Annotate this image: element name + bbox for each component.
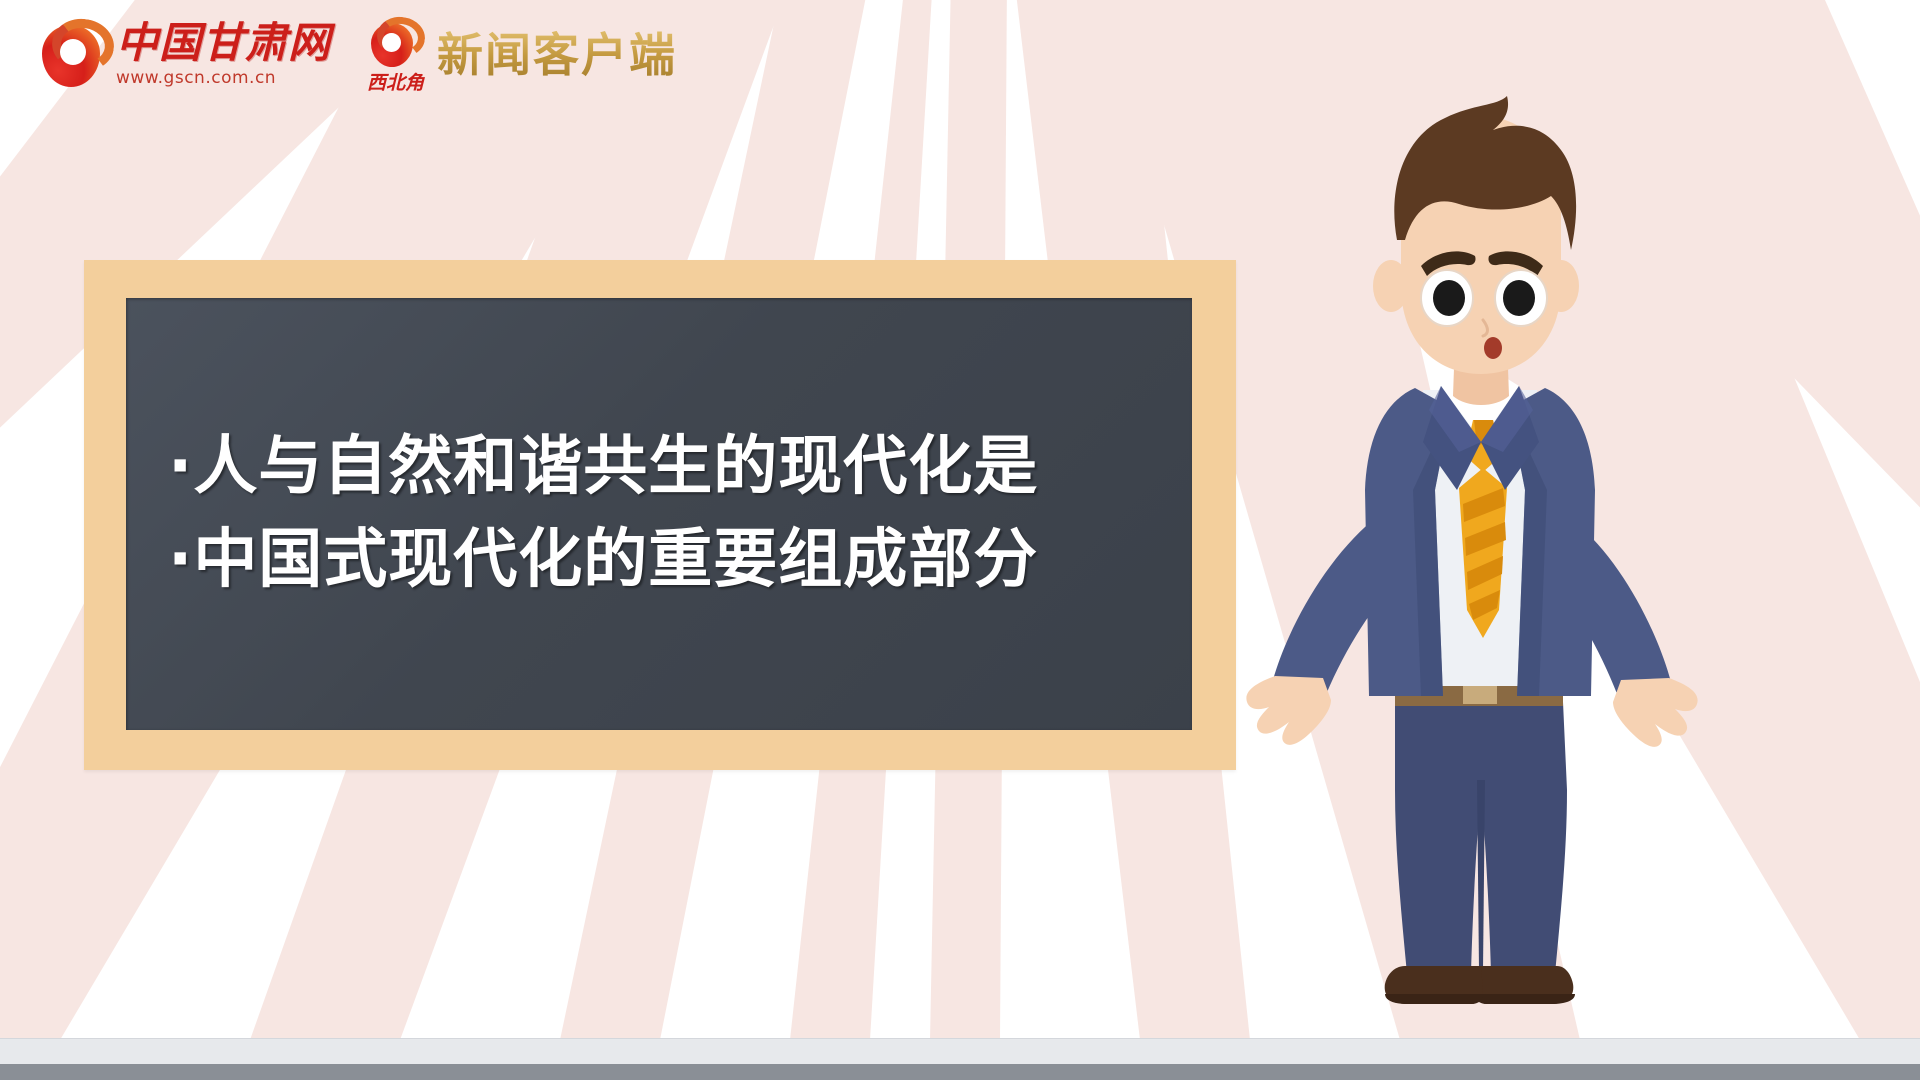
app-name-text: 新闻客户端 xyxy=(437,30,677,81)
xibeijiao-swirl-logo-icon: 西北角 xyxy=(367,19,419,91)
mouth xyxy=(1484,337,1502,359)
blackboard-frame: ·人与自然和谐共生的现代化是 ·中国式现代化的重要组成部分 xyxy=(84,260,1236,770)
blackboard-line-1: ·人与自然和谐共生的现代化是 xyxy=(168,421,1192,514)
blackboard-line-2: ·中国式现代化的重要组成部分 xyxy=(168,514,1192,607)
site-url-text: www.gscn.com.cn xyxy=(116,68,331,88)
slide-canvas: 中国甘肃网 www.gscn.com.cn 西北角 新闻客户端 ·人与自然和谐共… xyxy=(0,0,1920,1080)
right-eye xyxy=(1495,270,1547,326)
gansu-net-swirl-logo-icon xyxy=(40,19,102,91)
blackboard-surface: ·人与自然和谐共生的现代化是 ·中国式现代化的重要组成部分 xyxy=(126,298,1192,730)
gansu-net-wordmark: 中国甘肃网 www.gscn.com.cn xyxy=(116,22,331,88)
footer-light-bar xyxy=(0,1038,1920,1065)
xibeijiao-brand-text: 西北角 xyxy=(367,74,427,93)
businessman-presenter-illustration xyxy=(1245,90,1715,1080)
site-name-text: 中国甘肃网 xyxy=(116,22,331,64)
left-eye xyxy=(1421,270,1473,326)
footer-dark-bar xyxy=(0,1064,1920,1080)
shoes xyxy=(1385,966,1575,1004)
trousers xyxy=(1395,702,1567,974)
brand-header: 中国甘肃网 www.gscn.com.cn 西北角 新闻客户端 xyxy=(0,0,900,110)
